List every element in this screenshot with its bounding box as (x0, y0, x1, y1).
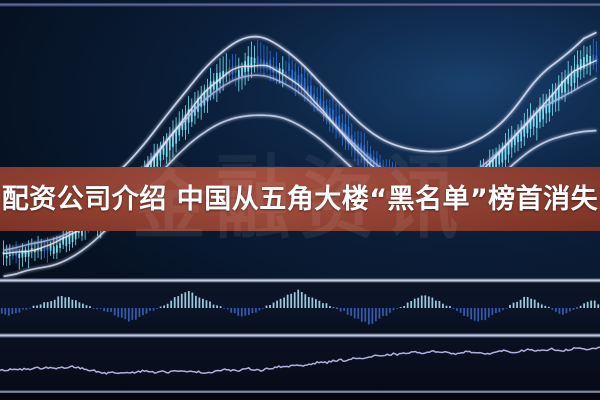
price-chart-svg (0, 0, 600, 280)
page-title: 配资公司介绍 中国从五角大楼“黑名单”榜首消失 (2, 186, 598, 213)
oscillator-line (0, 347, 600, 374)
title-banner: 金融资讯 配资公司介绍 中国从五角大楼“黑名单”榜首消失 (0, 167, 600, 231)
stock-chart-image: 金融资讯 金融资讯 配资公司介绍 中国从五角大楼“黑名单”榜首消失 (0, 0, 600, 400)
histogram-svg (0, 282, 600, 334)
oscillator-svg (0, 337, 600, 391)
histogram-bars (1, 290, 599, 325)
price-chart-panel (0, 0, 600, 280)
oscillator-indicator-panel (0, 337, 600, 391)
histogram-indicator-panel (0, 282, 600, 334)
bottom-fill (0, 393, 600, 400)
